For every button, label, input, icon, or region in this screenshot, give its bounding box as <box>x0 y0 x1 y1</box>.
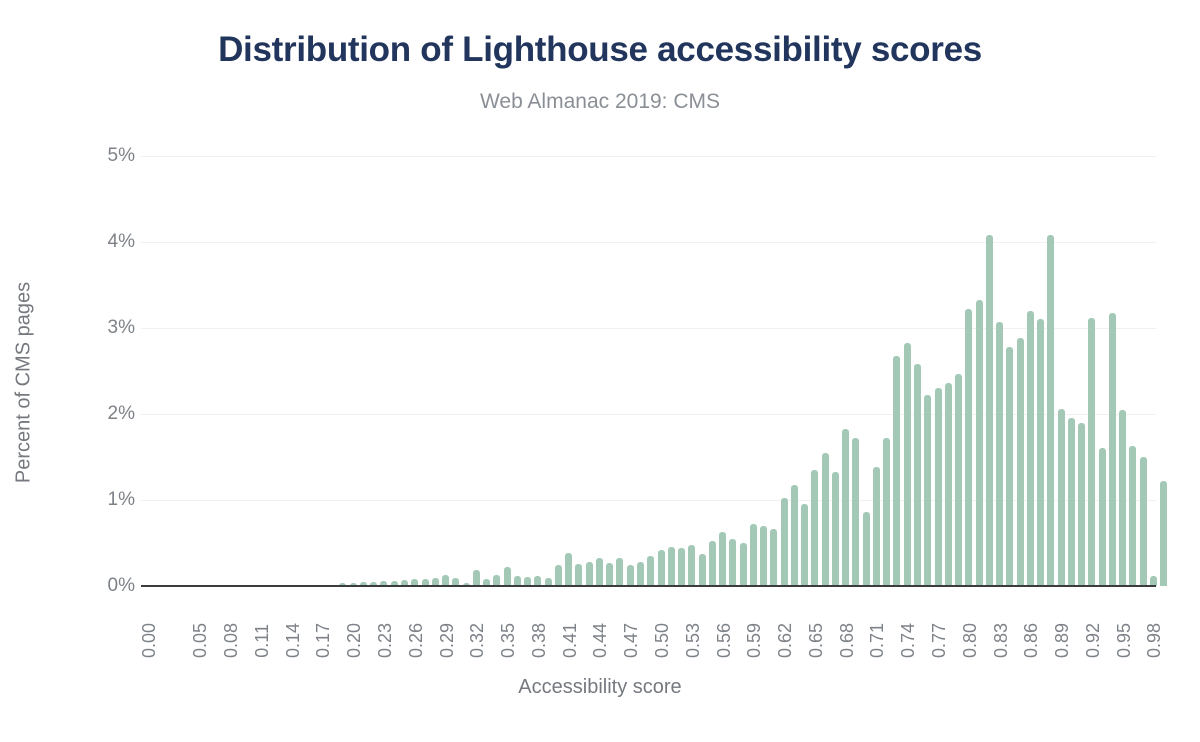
bar <box>976 300 983 586</box>
bar <box>616 558 623 586</box>
bar <box>688 545 695 586</box>
bar <box>1140 457 1147 586</box>
x-tick-label: 0.74 <box>898 623 919 658</box>
bar <box>1078 423 1085 586</box>
x-tick-label: 0.14 <box>283 623 304 658</box>
x-tick-label: 0.50 <box>652 623 673 658</box>
bar <box>658 550 665 586</box>
bar <box>627 565 634 587</box>
bar <box>740 543 747 586</box>
x-tick-label: 0.56 <box>714 623 735 658</box>
bar <box>801 504 808 586</box>
x-tick-label: 0.38 <box>529 623 550 658</box>
y-tick-label: 5% <box>75 145 135 167</box>
y-axis-tick-labels: 0%1%2%3%4%5% <box>60 0 135 742</box>
bar <box>668 547 675 586</box>
bar <box>750 524 757 586</box>
bar <box>842 429 849 586</box>
y-tick-label: 4% <box>75 231 135 253</box>
bar <box>770 529 777 586</box>
bar <box>965 309 972 586</box>
bar <box>1160 481 1167 586</box>
bar <box>719 532 726 586</box>
bar <box>863 512 870 586</box>
x-tick-label: 0.77 <box>929 623 950 658</box>
x-axis-title: Accessibility score <box>0 676 1200 699</box>
bar <box>586 562 593 586</box>
bar <box>914 364 921 586</box>
x-tick-label: 0.65 <box>806 623 827 658</box>
bar <box>1047 235 1054 586</box>
bar <box>596 558 603 586</box>
x-tick-label: 0.41 <box>560 623 581 658</box>
gridline <box>141 328 1156 329</box>
bar <box>873 467 880 586</box>
chart-figure: Distribution of Lighthouse accessibility… <box>0 0 1200 742</box>
bar <box>924 395 931 586</box>
x-tick-label: 0.29 <box>437 623 458 658</box>
x-tick-label: 0.92 <box>1083 623 1104 658</box>
y-axis-title: Percent of CMS pages <box>13 183 36 583</box>
bar <box>565 553 572 586</box>
bar <box>1037 319 1044 586</box>
chart-title: Distribution of Lighthouse accessibility… <box>0 30 1200 70</box>
bar <box>1119 410 1126 586</box>
x-tick-label: 0.71 <box>867 623 888 658</box>
x-tick-label: 0.23 <box>375 623 396 658</box>
bar <box>1068 418 1075 586</box>
chart-subtitle: Web Almanac 2019: CMS <box>0 90 1200 114</box>
bar <box>1099 448 1106 586</box>
bar <box>996 322 1003 586</box>
bar <box>904 343 911 586</box>
x-axis-line <box>141 585 1156 587</box>
bar <box>893 356 900 586</box>
gridline <box>141 414 1156 415</box>
gridline <box>141 242 1156 243</box>
plot-area <box>141 156 1156 586</box>
bar <box>504 567 511 586</box>
x-axis-tick-labels: 0.000.050.080.110.140.170.200.230.260.29… <box>141 596 1156 658</box>
bar <box>822 453 829 586</box>
bar <box>883 438 890 586</box>
bar <box>986 235 993 586</box>
bar <box>473 570 480 586</box>
y-tick-label: 3% <box>75 317 135 339</box>
bar <box>637 562 644 586</box>
bar <box>852 438 859 586</box>
bar <box>1129 446 1136 586</box>
gridline <box>141 500 1156 501</box>
x-tick-label: 0.05 <box>190 623 211 658</box>
bar <box>791 485 798 586</box>
x-tick-label: 0.53 <box>683 623 704 658</box>
x-tick-label: 0.11 <box>252 624 273 658</box>
x-tick-label: 0.00 <box>139 623 160 658</box>
bar <box>575 564 582 586</box>
x-tick-label: 0.83 <box>991 623 1012 658</box>
x-tick-label: 0.44 <box>590 623 611 658</box>
x-tick-label: 0.20 <box>344 623 365 658</box>
bar <box>1088 318 1095 586</box>
y-tick-label: 2% <box>75 403 135 425</box>
bar <box>709 541 716 586</box>
bar <box>935 388 942 586</box>
bar <box>945 383 952 586</box>
bar <box>1058 409 1065 586</box>
x-tick-label: 0.59 <box>744 623 765 658</box>
y-tick-label: 1% <box>75 489 135 511</box>
x-tick-label: 0.68 <box>837 623 858 658</box>
bar <box>832 472 839 586</box>
x-tick-label: 0.32 <box>467 623 488 658</box>
bar <box>699 554 706 586</box>
bar <box>1006 347 1013 586</box>
bar <box>555 565 562 587</box>
bar <box>955 374 962 586</box>
x-tick-label: 0.17 <box>313 623 334 658</box>
x-tick-label: 0.35 <box>498 623 519 658</box>
bar <box>729 539 736 586</box>
bar <box>647 556 654 586</box>
bar <box>1027 311 1034 586</box>
bar <box>760 526 767 586</box>
x-tick-label: 0.08 <box>221 623 242 658</box>
bar <box>781 498 788 586</box>
x-tick-label: 0.95 <box>1114 623 1135 658</box>
y-tick-label: 0% <box>75 575 135 597</box>
x-tick-label: 0.47 <box>621 623 642 658</box>
bar <box>606 563 613 586</box>
bar <box>811 470 818 586</box>
x-tick-label: 0.86 <box>1021 623 1042 658</box>
x-tick-label: 0.26 <box>406 623 427 658</box>
bar <box>1017 338 1024 586</box>
x-tick-label: 0.62 <box>775 623 796 658</box>
bar <box>678 548 685 586</box>
bar <box>1109 313 1116 586</box>
x-tick-label: 0.80 <box>960 623 981 658</box>
gridline <box>141 156 1156 157</box>
x-tick-label: 0.89 <box>1052 623 1073 658</box>
x-tick-label: 0.98 <box>1144 623 1165 658</box>
